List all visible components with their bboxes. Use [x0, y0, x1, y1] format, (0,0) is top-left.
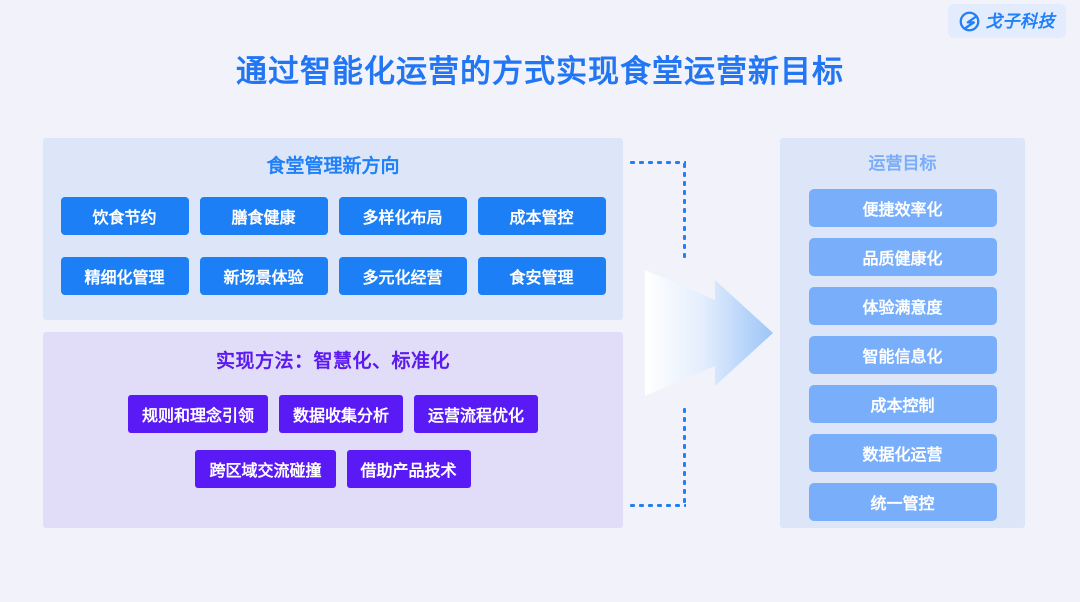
direction-pill[interactable]: 多元化经营 [339, 257, 467, 295]
goal-pill[interactable]: 统一管控 [809, 483, 997, 521]
panel-directions: 食堂管理新方向 饮食节约 膳食健康 多样化布局 成本管控 精细化管理 新场景体验… [43, 138, 623, 320]
goal-pill[interactable]: 品质健康化 [809, 238, 997, 276]
page-title: 通过智能化运营的方式实现食堂运营新目标 [0, 46, 1080, 91]
directions-row-1: 饮食节约 膳食健康 多样化布局 成本管控 [43, 197, 623, 235]
method-pill[interactable]: 借助产品技术 [347, 450, 471, 488]
direction-pill[interactable]: 多样化布局 [339, 197, 467, 235]
directions-row-2: 精细化管理 新场景体验 多元化经营 食安管理 [43, 257, 623, 295]
company-logo: 戈子科技 [948, 4, 1066, 38]
goal-pill[interactable]: 数据化运营 [809, 434, 997, 472]
method-pill[interactable]: 数据收集分析 [279, 395, 403, 433]
goal-pill[interactable]: 智能信息化 [809, 336, 997, 374]
method-pill[interactable]: 跨区域交流碰撞 [195, 450, 335, 488]
goal-pill[interactable]: 体验满意度 [809, 287, 997, 325]
connector-dotted-bottom-horizontal [628, 504, 686, 507]
direction-pill[interactable]: 成本管控 [478, 197, 606, 235]
method-pill[interactable]: 运营流程优化 [414, 395, 538, 433]
method-pill[interactable]: 规则和理念引领 [128, 395, 268, 433]
direction-pill[interactable]: 食安管理 [478, 257, 606, 295]
connector-dotted-top-vertical [683, 161, 686, 261]
logo-text: 戈子科技 [985, 13, 1055, 30]
direction-pill[interactable]: 膳食健康 [200, 197, 328, 235]
direction-pill[interactable]: 新场景体验 [200, 257, 328, 295]
goal-pill[interactable]: 便捷效率化 [809, 189, 997, 227]
methods-row-2: 跨区域交流碰撞 借助产品技术 [43, 450, 623, 488]
connector-dotted-top-horizontal [628, 161, 686, 164]
right-arrow-icon [643, 268, 775, 398]
goals-list: 便捷效率化 品质健康化 体验满意度 智能信息化 成本控制 数据化运营 统一管控 [780, 189, 1025, 521]
direction-pill[interactable]: 精细化管理 [61, 257, 189, 295]
panel-methods: 实现方法：智慧化、标准化 规则和理念引领 数据收集分析 运营流程优化 跨区域交流… [43, 332, 623, 528]
goal-pill[interactable]: 成本控制 [809, 385, 997, 423]
connector-dotted-bottom-vertical [683, 406, 686, 506]
methods-row-1: 规则和理念引领 数据收集分析 运营流程优化 [43, 395, 623, 433]
circle-g-logo-icon [959, 11, 980, 32]
direction-pill[interactable]: 饮食节约 [61, 197, 189, 235]
panel-goals-heading: 运营目标 [780, 155, 1025, 172]
panel-methods-heading: 实现方法：智慧化、标准化 [43, 352, 623, 371]
panel-directions-heading: 食堂管理新方向 [43, 157, 623, 176]
flow-arrow [643, 268, 775, 398]
panel-goals: 运营目标 便捷效率化 品质健康化 体验满意度 智能信息化 成本控制 数据化运营 … [780, 138, 1025, 528]
